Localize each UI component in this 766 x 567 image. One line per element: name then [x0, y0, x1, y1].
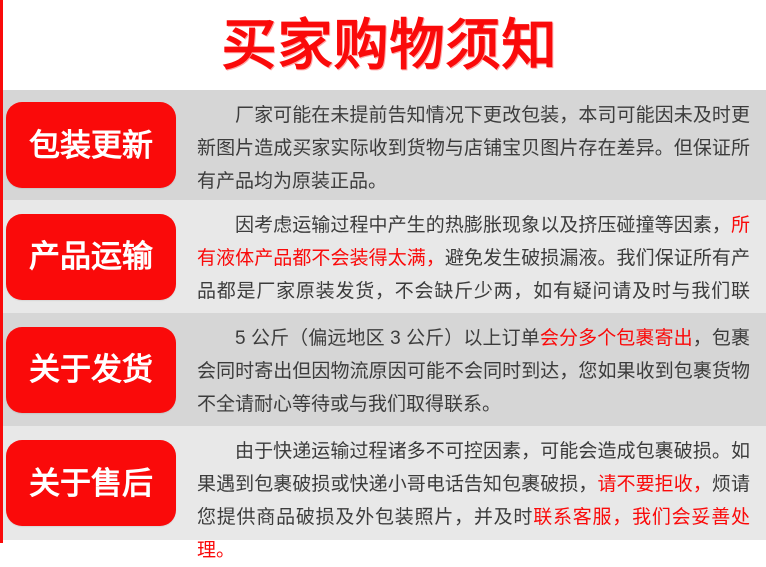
badge-cell: 关于售后: [3, 426, 183, 540]
notice-badge-shipping: 关于发货: [6, 327, 176, 413]
notice-row: 包装更新 厂家可能在未提前告知情况下更改包装，本司可能因未及时更新图片造成买家实…: [3, 90, 766, 200]
notice-badge-aftersales: 关于售后: [6, 440, 176, 526]
notice-row: 关于发货 5 公斤（偏远地区 3 公斤）以上订单会分多个包裹寄出，包裹会同时寄出…: [3, 313, 766, 426]
text-segment-highlight: 请不要拒收，: [597, 474, 711, 495]
body-cell: 5 公斤（偏远地区 3 公斤）以上订单会分多个包裹寄出，包裹会同时寄出但因物流原…: [183, 313, 766, 426]
badge-label: 包装更新: [29, 130, 153, 161]
notice-badge-packaging: 包装更新: [6, 102, 176, 188]
text-segment: 厂家可能在未提前告知情况下更改包装，本司可能因未及时更新图片造成买家实际收到货物…: [197, 105, 750, 192]
buyer-notice-page: 买家购物须知 包装更新 厂家可能在未提前告知情况下更改包装，本司可能因未及时更新…: [0, 0, 766, 543]
notice-body-packaging: 厂家可能在未提前告知情况下更改包装，本司可能因未及时更新图片造成买家实际收到货物…: [197, 99, 750, 198]
badge-cell: 产品运输: [3, 200, 183, 313]
badge-label: 关于售后: [29, 468, 153, 499]
badge-cell: 关于发货: [3, 313, 183, 426]
page-title: 买家购物须知: [221, 18, 557, 73]
body-cell: 因考虑运输过程中产生的热膨胀现象以及挤压碰撞等因素，所有液体产品都不会装得太满，…: [183, 200, 766, 313]
badge-cell: 包装更新: [3, 90, 183, 200]
body-cell: 由于快递运输过程诸多不可控因素，可能会造成包裹破损。如果遇到包裹破损或快递小哥电…: [183, 426, 766, 540]
body-cell: 厂家可能在未提前告知情况下更改包装，本司可能因未及时更新图片造成买家实际收到货物…: [183, 90, 766, 200]
notice-badge-transport: 产品运输: [6, 214, 176, 300]
notice-row: 产品运输 因考虑运输过程中产生的热膨胀现象以及挤压碰撞等因素，所有液体产品都不会…: [3, 200, 766, 313]
text-segment: 5 公斤（偏远地区 3 公斤）以上订单: [235, 328, 540, 349]
notice-body-aftersales: 由于快递运输过程诸多不可控因素，可能会造成包裹破损。如果遇到包裹破损或快递小哥电…: [197, 435, 750, 567]
page-header: 买家购物须知: [3, 0, 766, 90]
badge-label: 产品运输: [29, 241, 153, 272]
notice-row: 关于售后 由于快递运输过程诸多不可控因素，可能会造成包裹破损。如果遇到包裹破损或…: [3, 426, 766, 540]
notice-body-shipping: 5 公斤（偏远地区 3 公斤）以上订单会分多个包裹寄出，包裹会同时寄出但因物流原…: [197, 322, 750, 421]
badge-label: 关于发货: [29, 354, 153, 385]
text-segment: 因考虑运输过程中产生的热膨胀现象以及挤压碰撞等因素，: [235, 215, 731, 236]
text-segment-highlight: 会分多个包裹寄出: [540, 328, 693, 349]
